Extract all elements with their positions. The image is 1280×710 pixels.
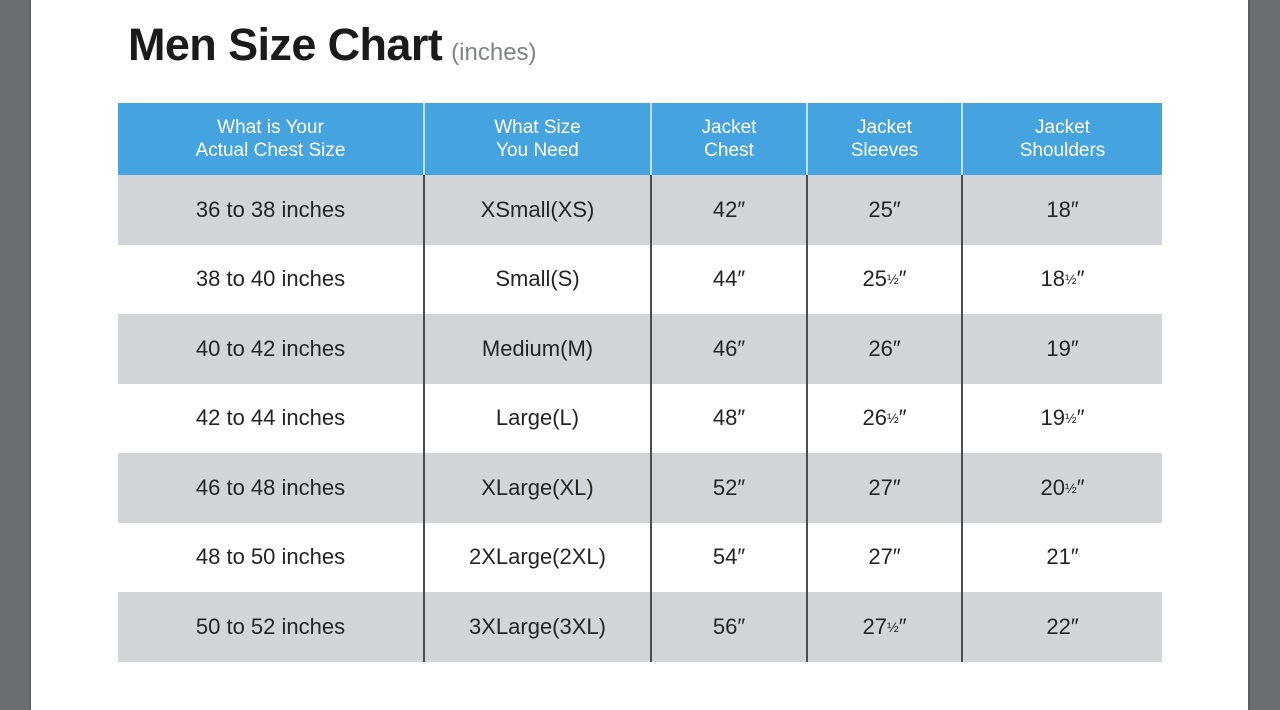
slide-canvas: Men Size Chart (inches) What is YourActu… [0, 0, 1280, 710]
table-row: 40 to 42 inchesMedium(M)46″26″19″ [118, 314, 1162, 384]
table-cell: 21″ [963, 523, 1162, 593]
table-cell: 2XLarge(2XL) [425, 523, 652, 593]
table-cell: 26½″ [808, 384, 963, 454]
column-header-5: JacketShoulders [963, 103, 1162, 175]
table-cell: 44″ [652, 245, 808, 315]
page-title-main: Men Size Chart [128, 22, 442, 67]
table-cell: 56″ [652, 592, 808, 662]
table-cell: 42 to 44 inches [118, 384, 425, 454]
table-cell: 54″ [652, 523, 808, 593]
table-cell: 36 to 38 inches [118, 175, 425, 245]
table-cell: 52″ [652, 453, 808, 523]
letterbox-bar-left [0, 0, 31, 710]
column-header-line2: Chest [704, 139, 754, 162]
table-cell: XLarge(XL) [425, 453, 652, 523]
table-row: 42 to 44 inchesLarge(L)48″26½″19½″ [118, 384, 1162, 454]
table-cell: 40 to 42 inches [118, 314, 425, 384]
table-header-row: What is YourActual Chest SizeWhat SizeYo… [118, 103, 1162, 175]
table-cell: 46″ [652, 314, 808, 384]
table-row: 48 to 50 inches2XLarge(2XL)54″27″21″ [118, 523, 1162, 593]
column-header-line1: What Size [494, 116, 581, 139]
column-header-1: What is YourActual Chest Size [118, 103, 425, 175]
column-header-2: What SizeYou Need [425, 103, 652, 175]
table-row: 50 to 52 inches3XLarge(3XL)56″27½″22″ [118, 592, 1162, 662]
table-row: 38 to 40 inchesSmall(S)44″25½″18½″ [118, 245, 1162, 315]
column-header-line1: Jacket [702, 116, 757, 139]
table-body: 36 to 38 inchesXSmall(XS)42″25″18″38 to … [118, 175, 1162, 662]
table-cell: 50 to 52 inches [118, 592, 425, 662]
table-cell: XSmall(XS) [425, 175, 652, 245]
table-cell: 18½″ [963, 245, 1162, 315]
table-cell: 19½″ [963, 384, 1162, 454]
page-title: Men Size Chart (inches) [128, 22, 537, 67]
table-cell: 48 to 50 inches [118, 523, 425, 593]
table-cell: 27″ [808, 523, 963, 593]
column-header-line1: Jacket [1035, 116, 1090, 139]
table-cell: 19″ [963, 314, 1162, 384]
table-cell: 26″ [808, 314, 963, 384]
column-header-line2: Shoulders [1020, 139, 1106, 162]
table-cell: Medium(M) [425, 314, 652, 384]
size-chart-table: What is YourActual Chest SizeWhat SizeYo… [118, 103, 1162, 662]
table-cell: 25″ [808, 175, 963, 245]
table-cell: 46 to 48 inches [118, 453, 425, 523]
table-cell: 18″ [963, 175, 1162, 245]
page-title-unit: (inches) [451, 41, 536, 65]
column-header-3: JacketChest [652, 103, 808, 175]
column-header-line2: You Need [496, 139, 579, 162]
table-cell: 27″ [808, 453, 963, 523]
table-cell: 48″ [652, 384, 808, 454]
column-header-line1: Jacket [857, 116, 912, 139]
table-cell: Large(L) [425, 384, 652, 454]
table-cell: 38 to 40 inches [118, 245, 425, 315]
table-cell: 25½″ [808, 245, 963, 315]
table-cell: 20½″ [963, 453, 1162, 523]
column-header-line2: Sleeves [851, 139, 919, 162]
column-header-line1: What is Your [217, 116, 324, 139]
table-cell: 3XLarge(3XL) [425, 592, 652, 662]
table-cell: 42″ [652, 175, 808, 245]
letterbox-bar-right [1248, 0, 1280, 710]
table-cell: 27½″ [808, 592, 963, 662]
table-row: 46 to 48 inchesXLarge(XL)52″27″20½″ [118, 453, 1162, 523]
size-chart-slide: Men Size Chart (inches) What is YourActu… [31, 0, 1248, 710]
table-row: 36 to 38 inchesXSmall(XS)42″25″18″ [118, 175, 1162, 245]
table-cell: Small(S) [425, 245, 652, 315]
table-cell: 22″ [963, 592, 1162, 662]
column-header-line2: Actual Chest Size [196, 139, 346, 162]
column-header-4: JacketSleeves [808, 103, 963, 175]
